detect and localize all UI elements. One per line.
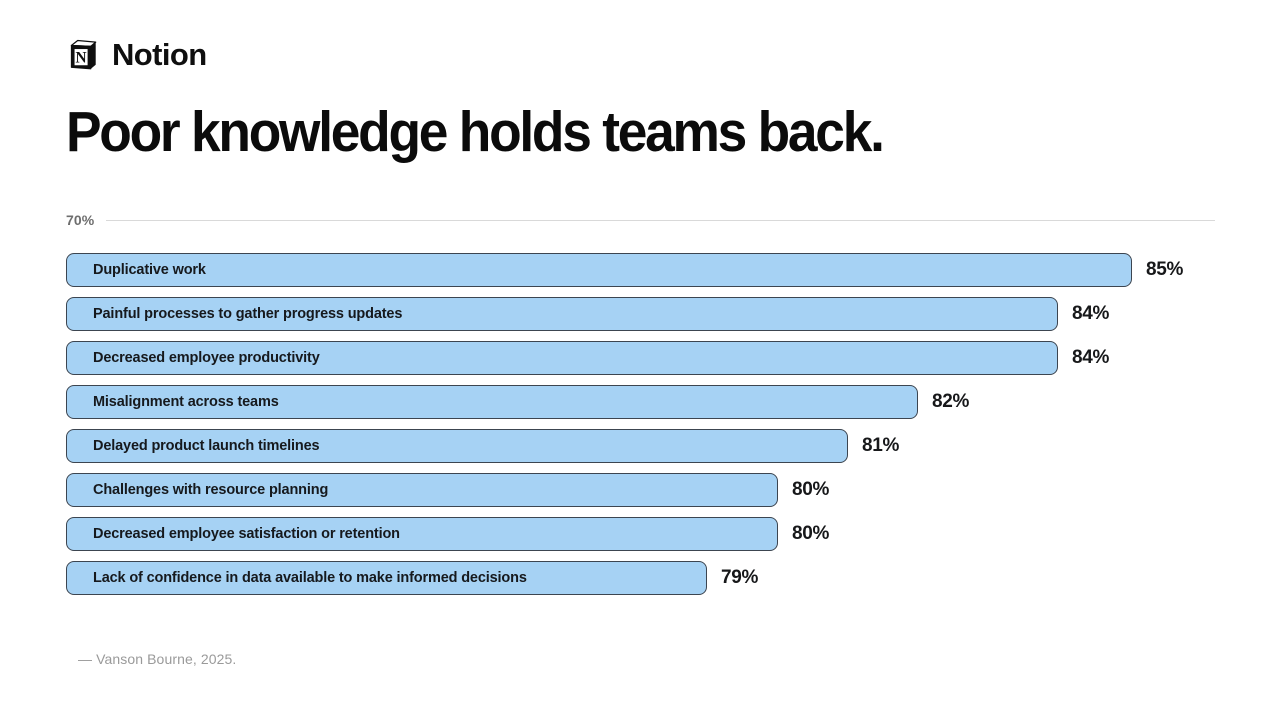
bar-row: Challenges with resource planning80% bbox=[66, 472, 1226, 508]
bar-label: Painful processes to gather progress upd… bbox=[67, 306, 402, 322]
bar[interactable]: Delayed product launch timelines bbox=[66, 429, 848, 463]
bar-label: Lack of confidence in data available to … bbox=[67, 570, 527, 586]
bar-label: Decreased employee productivity bbox=[67, 350, 320, 366]
bar-chart: 70% Duplicative work85%Painful processes… bbox=[0, 0, 1280, 720]
bar-row: Painful processes to gather progress upd… bbox=[66, 296, 1226, 332]
bar[interactable]: Duplicative work bbox=[66, 253, 1132, 287]
bar-value-label: 84% bbox=[1072, 347, 1109, 369]
bar-row: Decreased employee satisfaction or reten… bbox=[66, 516, 1226, 552]
bar-label: Misalignment across teams bbox=[67, 394, 279, 410]
bar[interactable]: Decreased employee productivity bbox=[66, 341, 1058, 375]
bar[interactable]: Painful processes to gather progress upd… bbox=[66, 297, 1058, 331]
bar[interactable]: Misalignment across teams bbox=[66, 385, 918, 419]
bar-row: Decreased employee productivity84% bbox=[66, 340, 1226, 376]
bar-row: Duplicative work85% bbox=[66, 252, 1226, 288]
bar-row: Delayed product launch timelines81% bbox=[66, 428, 1226, 464]
bar-value-label: 82% bbox=[932, 391, 969, 413]
bar-label: Decreased employee satisfaction or reten… bbox=[67, 526, 400, 542]
axis-gridline bbox=[106, 220, 1215, 221]
bar[interactable]: Lack of confidence in data available to … bbox=[66, 561, 707, 595]
bar-value-label: 80% bbox=[792, 523, 829, 545]
bar-list: Duplicative work85%Painful processes to … bbox=[66, 252, 1226, 604]
source-attribution: — Vanson Bourne, 2025. bbox=[78, 651, 236, 667]
bar-value-label: 80% bbox=[792, 479, 829, 501]
bar[interactable]: Challenges with resource planning bbox=[66, 473, 778, 507]
bar-row: Misalignment across teams82% bbox=[66, 384, 1226, 420]
axis-tick-label-70: 70% bbox=[66, 212, 94, 228]
bar-label: Delayed product launch timelines bbox=[67, 438, 319, 454]
bar-value-label: 84% bbox=[1072, 303, 1109, 325]
bar-value-label: 81% bbox=[862, 435, 899, 457]
bar-value-label: 79% bbox=[721, 567, 758, 589]
bar-label: Duplicative work bbox=[67, 262, 206, 278]
bar-value-label: 85% bbox=[1146, 259, 1183, 281]
bar-label: Challenges with resource planning bbox=[67, 482, 328, 498]
bar[interactable]: Decreased employee satisfaction or reten… bbox=[66, 517, 778, 551]
axis-tick-row: 70% bbox=[66, 212, 1215, 228]
bar-row: Lack of confidence in data available to … bbox=[66, 560, 1226, 596]
